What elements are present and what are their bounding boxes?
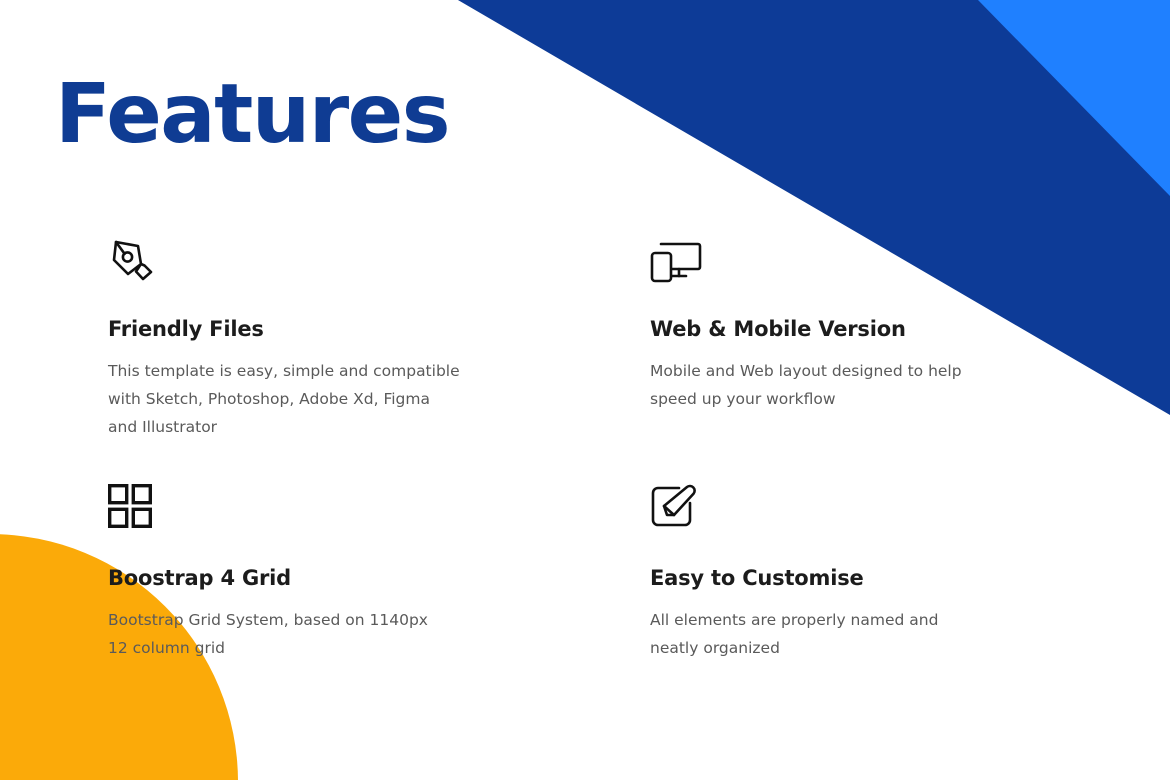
- feature-description: Mobile and Web layout designed to help s…: [650, 341, 1050, 413]
- feature-title: Boostrap 4 Grid: [108, 540, 650, 590]
- pen-tool-icon: [108, 236, 650, 292]
- grid-2x2-icon: [108, 484, 650, 540]
- feature-description: All elements are properly named and neat…: [650, 590, 1050, 662]
- edit-pencil-square-icon: [650, 484, 1108, 540]
- feature-item-easy-to-customise: Easy to Customise All elements are prope…: [650, 484, 1108, 662]
- feature-item-bootstrap-grid: Boostrap 4 Grid Bootstrap Grid System, b…: [108, 484, 650, 662]
- page-title: Features: [55, 74, 449, 156]
- bright-blue-corner-triangle: [978, 0, 1170, 196]
- feature-title: Web & Mobile Version: [650, 292, 1108, 341]
- feature-item-web-mobile-version: Web & Mobile Version Mobile and Web layo…: [650, 236, 1108, 484]
- feature-title: Friendly Files: [108, 292, 650, 341]
- features-slide: Features Friendly Files This template is…: [0, 0, 1170, 780]
- feature-grid: Friendly Files This template is easy, si…: [108, 236, 1108, 662]
- feature-description: Bootstrap Grid System, based on 1140px 1…: [108, 590, 508, 662]
- devices-web-mobile-icon: [650, 236, 1108, 292]
- feature-description: This template is easy, simple and compat…: [108, 341, 508, 441]
- feature-item-friendly-files: Friendly Files This template is easy, si…: [108, 236, 650, 484]
- feature-title: Easy to Customise: [650, 540, 1108, 590]
